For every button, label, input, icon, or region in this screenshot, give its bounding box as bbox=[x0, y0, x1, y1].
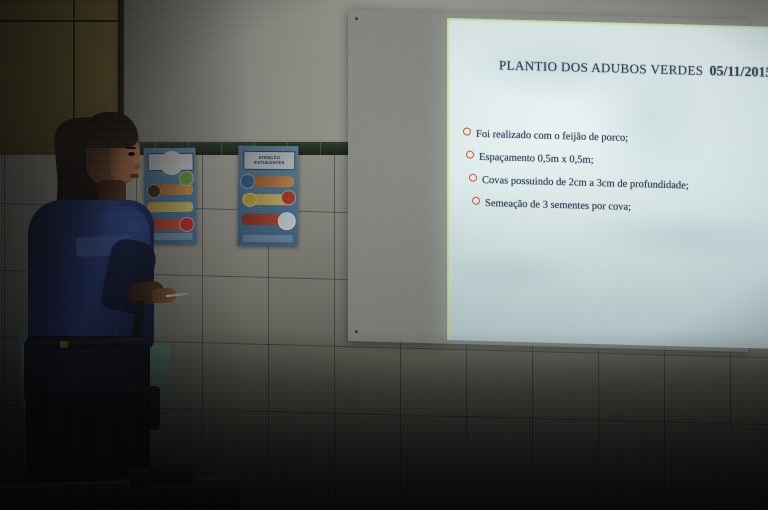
slide-bullet-item: Semeação de 3 sementes por cova; bbox=[472, 198, 763, 217]
slide-bullet-text: Espaçamento 0,5m x 0,5m; bbox=[479, 152, 594, 166]
poster-left-badge-2 bbox=[179, 171, 194, 186]
projection-left-fringe bbox=[447, 18, 451, 340]
photo-scene: ATENÇÃO ESTUDANTES PLANTIO DOS ADUBOS VE… bbox=[0, 0, 768, 510]
poster-right-badge-4 bbox=[277, 212, 295, 230]
tile-grout-vertical bbox=[70, 155, 71, 510]
tile-grout-horizontal bbox=[0, 404, 768, 425]
slide-bullet-item: Espaçamento 0,5m x 0,5m; bbox=[466, 152, 763, 171]
bullet-circle-icon bbox=[466, 151, 474, 159]
bullet-circle-icon bbox=[469, 174, 477, 182]
poster-right-header-line2: ESTUDANTES bbox=[254, 160, 284, 165]
slide-bullet-text: Foi realizado com o feijão de porco; bbox=[476, 129, 628, 144]
projected-slide: PLANTIO DOS ADUBOS VERDES05/11/2015 Foi … bbox=[447, 18, 768, 349]
slide-bullet-item: Foi realizado com o feijão de porco; bbox=[463, 128, 763, 147]
slide-bullet-item: Covas possuindo de 2cm a 3cm de profundi… bbox=[469, 175, 763, 194]
bullet-circle-icon bbox=[472, 197, 480, 205]
slide-bullet-list: Foi realizado com o feijão de porco;Espa… bbox=[463, 128, 763, 228]
slide-title-date: 05/11/2015 bbox=[709, 64, 768, 81]
poster-right-badge-3 bbox=[243, 193, 257, 207]
slide-bullet-text: Covas possuindo de 2cm a 3cm de profundi… bbox=[482, 175, 689, 192]
poster-no-smoking bbox=[143, 148, 196, 245]
door-seam-horizontal bbox=[0, 20, 122, 22]
tile-grout-vertical bbox=[4, 155, 5, 510]
no-smoking-icon bbox=[159, 151, 183, 175]
poster-left-row-2 bbox=[147, 202, 193, 213]
poster-right-header: ATENÇÃO ESTUDANTES bbox=[243, 151, 296, 170]
poster-atencao-estudantes: ATENÇÃO ESTUDANTES bbox=[238, 146, 299, 247]
slide-title: PLANTIO DOS ADUBOS VERDES05/11/2015 bbox=[499, 57, 768, 81]
whiteboard-screw-bottom-left bbox=[355, 330, 358, 333]
tile-grout-vertical bbox=[136, 155, 137, 510]
slide-title-text: PLANTIO DOS ADUBOS VERDES bbox=[499, 57, 703, 78]
tile-grout-vertical bbox=[334, 155, 335, 510]
tile-grout-vertical bbox=[202, 155, 203, 510]
poster-right-badge-2 bbox=[281, 190, 296, 205]
bullet-circle-icon bbox=[463, 127, 471, 135]
poster-left-badge-3 bbox=[179, 217, 194, 232]
slide-bullet-text: Semeação de 3 sementes por cova; bbox=[485, 198, 631, 213]
desk-object bbox=[130, 464, 195, 487]
poster-right-footer bbox=[242, 235, 292, 242]
whiteboard-screw-top-left bbox=[355, 17, 358, 20]
poster-left-badge-1 bbox=[147, 184, 161, 198]
poster-left-footer bbox=[149, 233, 193, 240]
